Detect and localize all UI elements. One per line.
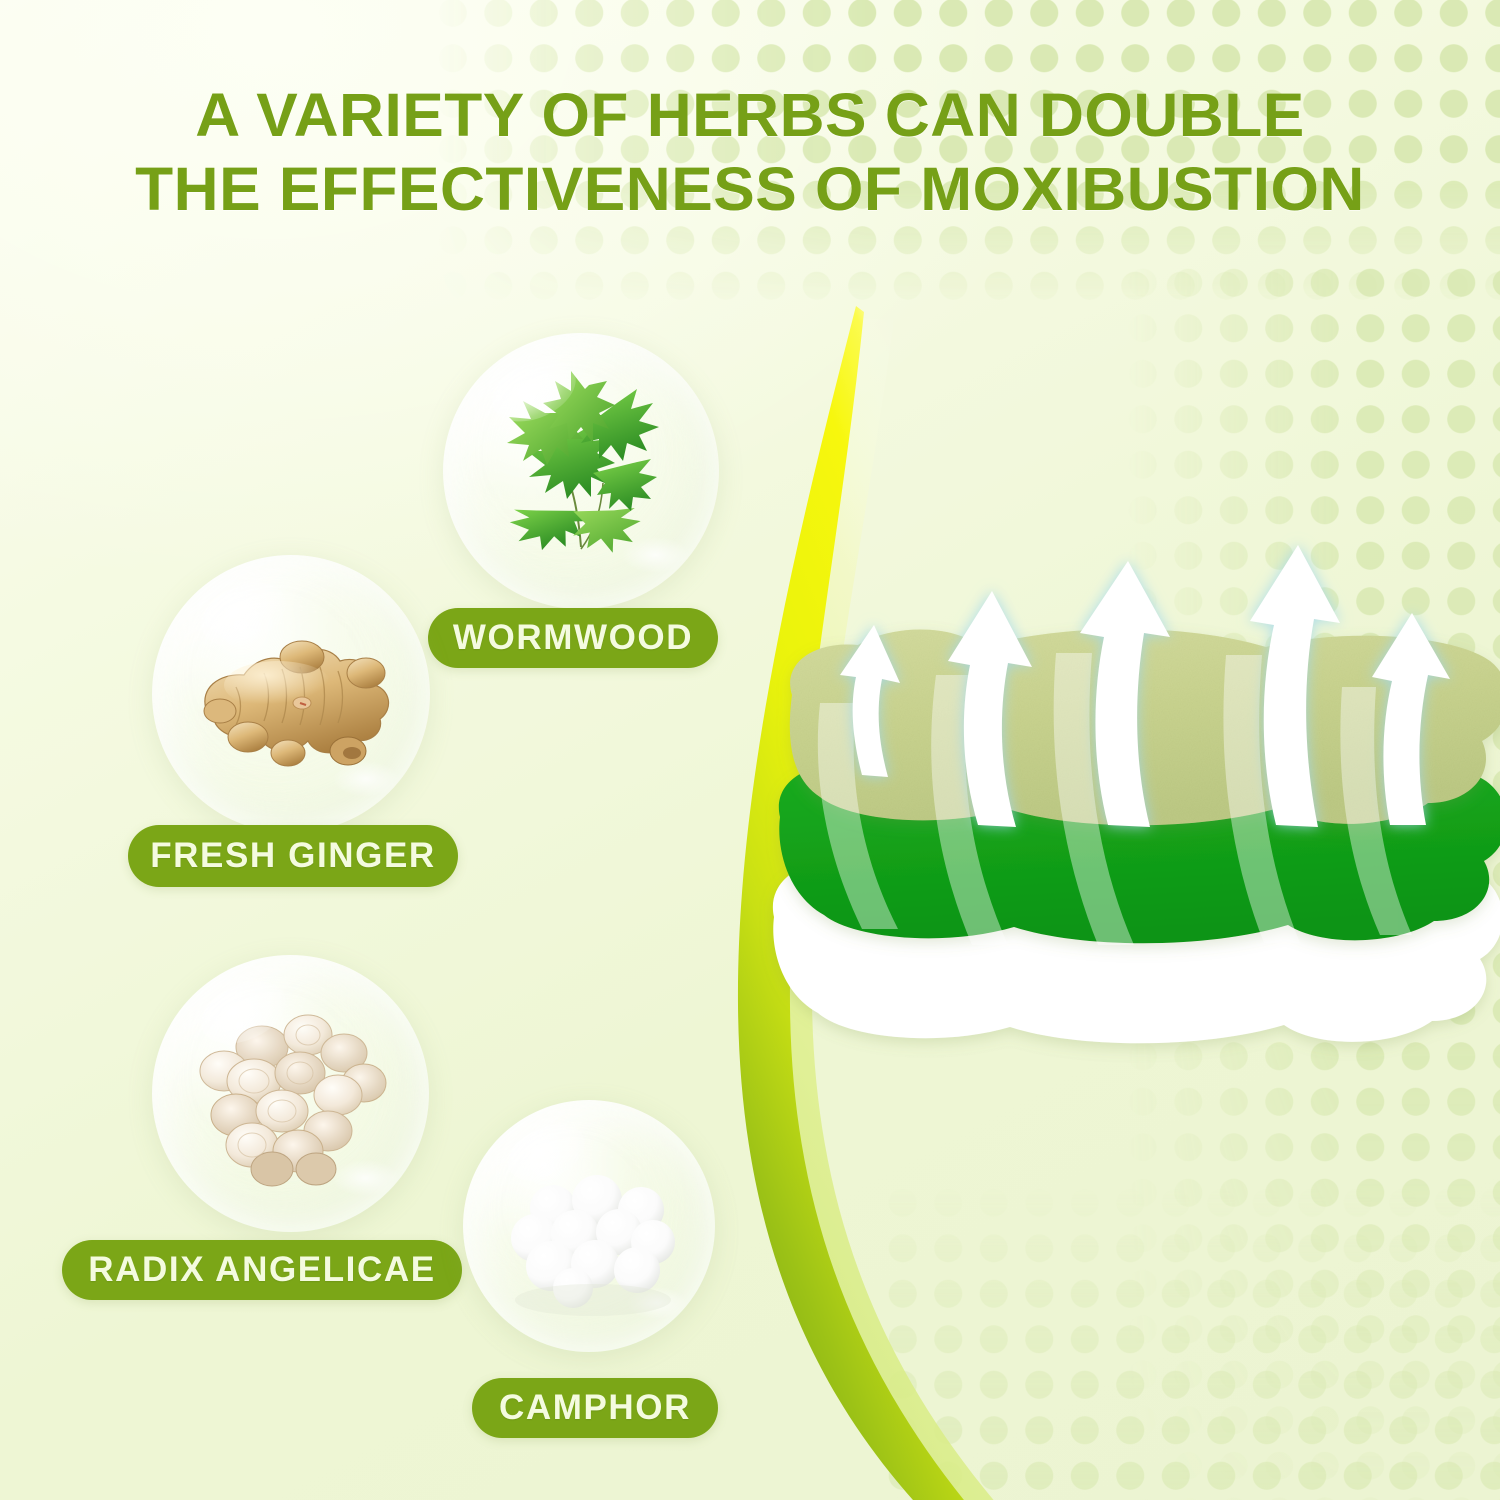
ingredient-label-radix-angelicae: RADIX ANGELICAE [62, 1240, 462, 1300]
polka-dot-pattern-bottom [880, 1180, 1500, 1500]
ingredient-label-fresh-ginger: FRESH GINGER [128, 825, 458, 887]
ingredient-bubble-camphor [463, 1100, 715, 1352]
camphor-balls-icon [463, 1100, 715, 1352]
ginger-root-icon [152, 555, 430, 833]
ingredient-label-wormwood: WORMWOOD [428, 608, 718, 668]
ingredient-bubble-wormwood [443, 333, 719, 609]
layered-moxibustion-patch [756, 525, 1500, 1145]
infographic-canvas: A VARIETY OF HERBS CAN DOUBLE THE EFFECT… [0, 0, 1500, 1500]
angelica-root-slices-icon [152, 955, 429, 1232]
ingredient-bubble-radix-angelicae [152, 955, 429, 1232]
ingredient-label-camphor: CAMPHOR [472, 1378, 718, 1438]
ingredient-bubble-fresh-ginger [152, 555, 430, 833]
page-title: A VARIETY OF HERBS CAN DOUBLE THE EFFECT… [0, 78, 1500, 226]
wormwood-sprig-icon [443, 333, 719, 609]
